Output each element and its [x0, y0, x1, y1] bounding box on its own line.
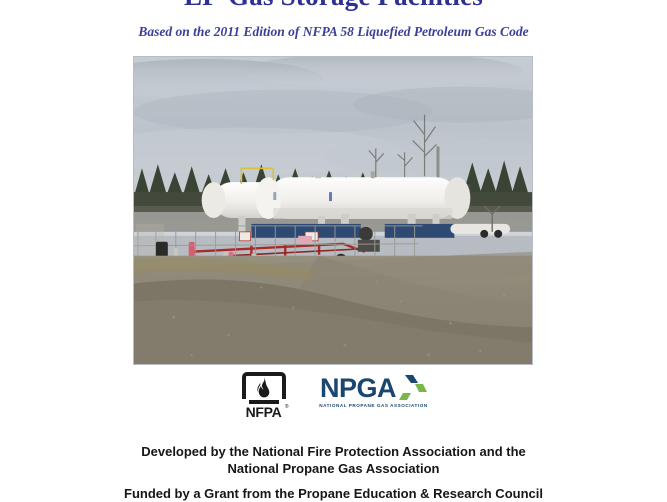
document-page: LP-Gas Storage Facilities Based on the 2…	[0, 0, 667, 500]
cover-photo-illustration	[134, 57, 532, 364]
npga-wordmark-text: NPGA	[320, 373, 396, 403]
credit-developed-line-2: National Propane Gas Association	[0, 460, 667, 477]
npga-logo: NPGA NATIONAL PROPANE GAS ASSOCIATION	[319, 372, 429, 418]
credits-block: Developed by the National Fire Protectio…	[0, 443, 667, 477]
cover-photo	[133, 56, 533, 365]
flame-icon-glyph	[255, 377, 273, 399]
nfpa-logo: NFPA ®	[239, 372, 289, 422]
logo-row: NFPA ® NPGA NATIONAL PROPANE GAS ASSOCIA…	[0, 372, 667, 424]
flame-icon	[239, 374, 289, 402]
page-subtitle: Based on the 2011 Edition of NFPA 58 Liq…	[0, 24, 667, 40]
credit-funded-line: Funded by a Grant from the Propane Educa…	[0, 485, 667, 502]
nfpa-wordmark: NFPA	[239, 404, 289, 420]
subtitle-block: Based on the 2011 Edition of NFPA 58 Liq…	[0, 24, 667, 40]
npga-wordmark-icon: NPGA	[319, 372, 429, 404]
page-title: LP-Gas Storage Facilities	[0, 0, 667, 11]
credit-developed-line-1: Developed by the National Fire Protectio…	[0, 443, 667, 460]
nfpa-registered-mark: ®	[285, 404, 289, 410]
npga-tagline: NATIONAL PROPANE GAS ASSOCIATION	[319, 403, 429, 408]
title-block: LP-Gas Storage Facilities	[0, 0, 667, 11]
